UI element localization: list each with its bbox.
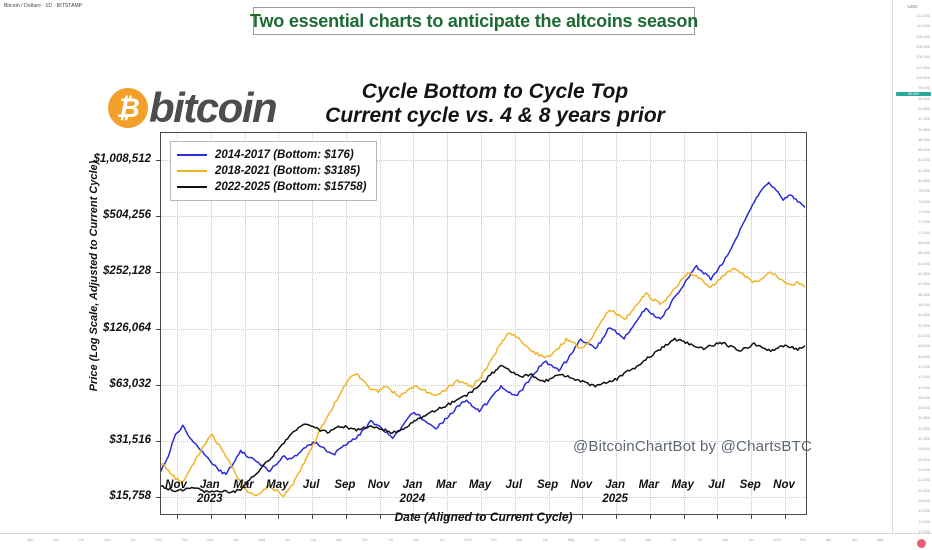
price-axis-tick: 84,000 xyxy=(893,158,930,162)
price-axis-tick: 62,000 xyxy=(893,272,930,276)
legend-item-label: 2022-2025 (Bottom: $15758) xyxy=(215,181,367,193)
price-axis-tick: 100,000 xyxy=(893,76,930,80)
legend-color-swatch xyxy=(177,170,207,172)
time-axis-tick: Set xyxy=(53,538,58,542)
y-axis-tick-mark xyxy=(156,329,161,330)
price-axis-tick: 22,000 xyxy=(893,478,930,482)
price-axis-tick: 68,000 xyxy=(893,241,930,245)
price-axis-tick: 38,000 xyxy=(893,396,930,400)
price-axis-tick: 28,000 xyxy=(893,447,930,451)
price-axis-tick: 56,000 xyxy=(893,303,930,307)
price-axis-tick: 66,000 xyxy=(893,251,930,255)
price-axis-tick: 34,000 xyxy=(893,416,930,420)
x-axis-tick-label: Jan xyxy=(605,479,625,491)
x-axis-tick-label: Mar xyxy=(639,479,659,491)
time-axis-tick: Mag xyxy=(259,538,266,542)
price-axis-tick: 102,000 xyxy=(893,66,930,70)
time-axis-tick: Feb xyxy=(800,538,806,542)
price-axis-tick: 40,000 xyxy=(893,386,930,390)
time-axis-tick: Ott xyxy=(697,538,702,542)
time-axis-tick: Mar xyxy=(516,538,522,542)
y-axis-label: Price (Log Scale, Adjusted to Current Cy… xyxy=(88,156,100,396)
time-axis[interactable]: AgoSetOttNovDic2023FebMarAprMagGiuLugAgo… xyxy=(0,533,932,550)
price-axis-tick: 32,000 xyxy=(893,427,930,431)
price-axis-tick: 86,000 xyxy=(893,148,930,152)
legend-color-swatch xyxy=(177,154,207,156)
price-axis[interactable]: USD 112,000110,000108,000106,000104,0001… xyxy=(892,0,932,534)
time-axis-tick: Nov xyxy=(413,538,419,542)
price-axis-tick: 30,000 xyxy=(893,437,930,441)
legend-item[interactable]: 2014-2017 (Bottom: $176) xyxy=(177,147,367,163)
headline-banner: Two essential charts to anticipate the a… xyxy=(253,7,695,35)
y-axis-tick-mark xyxy=(156,272,161,273)
time-axis-tick: Mar xyxy=(207,538,213,542)
price-axis-tick: 60,000 xyxy=(893,282,930,286)
x-axis-tick-label: Jan xyxy=(200,479,220,491)
price-axis-tick: 78,000 xyxy=(893,189,930,193)
legend-item[interactable]: 2022-2025 (Bottom: $15758) xyxy=(177,179,367,195)
x-axis-tick-label: Sep xyxy=(537,479,558,491)
time-axis-tick: Lug xyxy=(620,538,626,542)
price-axis-tick: 14,000 xyxy=(893,520,930,524)
current-price-badge: 96,500 xyxy=(896,92,931,96)
price-axis-tick: 24,000 xyxy=(893,468,930,472)
time-axis-tick: Set xyxy=(362,538,367,542)
legend-item[interactable]: 2018-2021 (Bottom: $3185) xyxy=(177,163,367,179)
price-axis-tick: 58,000 xyxy=(893,293,930,297)
time-axis-tick: Feb xyxy=(491,538,497,542)
time-axis-tick: Ago xyxy=(27,538,33,542)
legend-color-swatch xyxy=(177,186,207,188)
price-axis-tick: 80,000 xyxy=(893,179,930,183)
price-axis-tick: 52,000 xyxy=(893,324,930,328)
x-axis-label: Date (Aligned to Current Cycle) xyxy=(160,510,807,524)
x-axis-tick-label: Jan xyxy=(403,479,423,491)
price-axis-tick: 112,000 xyxy=(893,14,930,18)
time-axis-tick: 2024 xyxy=(464,538,472,542)
legend-item-label: 2018-2021 (Bottom: $3185) xyxy=(215,165,360,177)
x-axis-tick-label: Sep xyxy=(740,479,761,491)
price-axis-tick: 50,000 xyxy=(893,334,930,338)
time-axis-tick: Dic xyxy=(749,538,754,542)
time-axis-tick: Mar xyxy=(826,538,832,542)
x-axis-tick-label: Jul xyxy=(303,479,320,491)
y-axis-tick-mark xyxy=(156,385,161,386)
time-axis-tick: Ago xyxy=(645,538,651,542)
x-axis-tick-label: Jul xyxy=(708,479,725,491)
time-axis-tick: Ott xyxy=(388,538,393,542)
chart-figure: ₿ bitcoin Cycle Bottom to Cycle Top Curr… xyxy=(0,40,892,534)
price-axis-tick: 76,000 xyxy=(893,200,930,204)
price-axis-tick: 64,000 xyxy=(893,262,930,266)
time-axis-tick: 2025 xyxy=(773,538,781,542)
x-axis-tick-label: May xyxy=(266,479,288,491)
time-axis-tick: Nov xyxy=(722,538,728,542)
x-axis-tick-label: Nov xyxy=(773,479,795,491)
plot-area[interactable]: 2014-2017 (Bottom: $176)2018-2021 (Botto… xyxy=(160,132,807,515)
y-axis-tick-label: $252,128 xyxy=(103,265,151,277)
price-axis-tick: 20,000 xyxy=(893,489,930,493)
time-axis-tick: Ago xyxy=(336,538,342,542)
price-axis-tick: 94,000 xyxy=(893,107,930,111)
price-axis-tick: 98,000 xyxy=(893,86,930,90)
chart-title-line1: Cycle Bottom to Cycle Top xyxy=(170,80,820,104)
x-axis-year-label: 2024 xyxy=(400,493,426,505)
x-axis-tick-label: Nov xyxy=(368,479,390,491)
price-axis-tick: 82,000 xyxy=(893,169,930,173)
y-axis-tick-mark xyxy=(156,497,161,498)
x-axis-tick-label: Mar xyxy=(436,479,456,491)
time-axis-tick: Set xyxy=(671,538,676,542)
price-axis-tick: 46,000 xyxy=(893,355,930,359)
time-axis-tick: Giu xyxy=(285,538,290,542)
bitcoin-symbol-icon: ₿ xyxy=(108,88,148,128)
time-axis-tick: Giu xyxy=(594,538,599,542)
chart-legend: 2014-2017 (Bottom: $176)2018-2021 (Botto… xyxy=(170,141,377,201)
x-axis-year-label: 2023 xyxy=(197,493,223,505)
x-axis-tick-label: May xyxy=(469,479,491,491)
y-axis-tick-label: $504,256 xyxy=(103,209,151,221)
price-axis-tick: 74,000 xyxy=(893,210,930,214)
time-axis-tick: Mag xyxy=(568,538,575,542)
x-axis-year-label: 2025 xyxy=(602,493,628,505)
time-axis-tick: Nov xyxy=(104,538,110,542)
watermark-credit: @BitcoinChartBot by @ChartsBTC xyxy=(573,438,812,455)
price-axis-tick: 44,000 xyxy=(893,365,930,369)
price-axis-tick: 106,000 xyxy=(893,45,930,49)
x-axis-tick-label: Mar xyxy=(233,479,253,491)
series-line xyxy=(161,338,805,492)
headline-banner-text: Two essential charts to anticipate the a… xyxy=(250,11,698,32)
time-axis-tick: Apr xyxy=(852,538,857,542)
y-axis-tick-label: $63,032 xyxy=(109,378,151,390)
price-axis-unit-label: USD xyxy=(893,4,932,9)
y-axis-tick-label: $15,758 xyxy=(109,490,151,502)
price-axis-tick: 88,000 xyxy=(893,138,930,142)
price-axis-tick: 104,000 xyxy=(893,55,930,59)
x-axis-tick-label: Nov xyxy=(570,479,592,491)
time-axis-tick: 2023 xyxy=(155,538,163,542)
time-axis-tick: Dic xyxy=(131,538,136,542)
price-axis-tick: 54,000 xyxy=(893,313,930,317)
chart-title-line2: Current cycle vs. 4 & 8 years prior xyxy=(170,104,820,128)
time-axis-tick: Ott xyxy=(79,538,84,542)
price-axis-tick: 72,000 xyxy=(893,220,930,224)
legend-item-label: 2014-2017 (Bottom: $176) xyxy=(215,149,354,161)
y-axis-tick-label: $126,064 xyxy=(103,322,151,334)
x-axis-tick-label: Nov xyxy=(165,479,187,491)
y-axis-tick-label: $1,008,512 xyxy=(93,153,151,165)
price-axis-tick: 26,000 xyxy=(893,458,930,462)
price-axis-tick: 90,000 xyxy=(893,128,930,132)
time-axis-tick: Apr xyxy=(543,538,548,542)
time-axis-tick: Mag xyxy=(877,538,884,542)
y-axis-tick-label: $31,516 xyxy=(109,434,151,446)
price-axis-tick: 92,000 xyxy=(893,117,930,121)
price-axis-tick: 70,000 xyxy=(893,231,930,235)
x-axis-tick-label: May xyxy=(671,479,693,491)
y-axis-tick-mark xyxy=(156,160,161,161)
chart-title: Cycle Bottom to Cycle Top Current cycle … xyxy=(170,80,820,127)
time-axis-tick: Apr xyxy=(233,538,238,542)
time-axis-tick: Dic xyxy=(440,538,445,542)
y-axis-tick-mark xyxy=(156,216,161,217)
price-axis-tick: 48,000 xyxy=(893,344,930,348)
x-axis-tick-label: Sep xyxy=(334,479,355,491)
tradingview-logo-icon xyxy=(917,539,926,548)
price-axis-tick: 108,000 xyxy=(893,35,930,39)
x-axis-tick-label: Jul xyxy=(505,479,522,491)
time-axis-tick: Lug xyxy=(310,538,316,542)
symbol-label: Bitcoin / Dollaro · 1D · BITSTAMP xyxy=(4,3,82,9)
series-line xyxy=(161,182,805,474)
y-axis-tick-mark xyxy=(156,441,161,442)
time-axis-tick: Feb xyxy=(182,538,188,542)
price-axis-tick: 42,000 xyxy=(893,375,930,379)
price-axis-tick: 36,000 xyxy=(893,406,930,410)
price-axis-tick: 110,000 xyxy=(893,24,930,28)
price-axis-tick: 18,000 xyxy=(893,499,930,503)
price-axis-tick: 96,000 xyxy=(893,97,930,101)
price-axis-tick: 16,000 xyxy=(893,509,930,513)
